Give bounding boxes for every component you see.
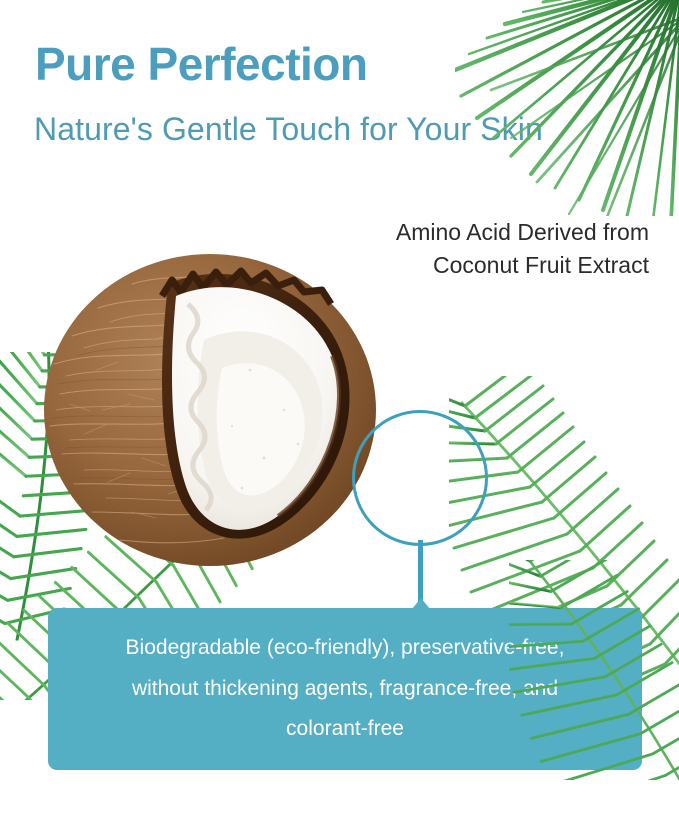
benefits-line-3: colorant-free xyxy=(74,709,616,750)
page-title: Pure Perfection xyxy=(35,40,368,88)
palm-frond-fan-icon xyxy=(455,0,679,216)
coconut-half-image xyxy=(36,244,384,570)
callout-pointer-notch xyxy=(412,598,430,609)
benefits-line-1: Biodegradable (eco-friendly), preservati… xyxy=(74,628,616,669)
poster-canvas: Pure Perfection Nature's Gentle Touch fo… xyxy=(0,0,679,815)
benefits-line-2: without thickening agents, fragrance-fre… xyxy=(74,669,616,710)
page-subtitle: Nature's Gentle Touch for Your Skin xyxy=(34,110,543,148)
magnifier-circle-icon xyxy=(352,410,488,546)
benefits-callout: Biodegradable (eco-friendly), preservati… xyxy=(48,608,642,770)
benefits-callout-text: Biodegradable (eco-friendly), preservati… xyxy=(74,628,616,751)
